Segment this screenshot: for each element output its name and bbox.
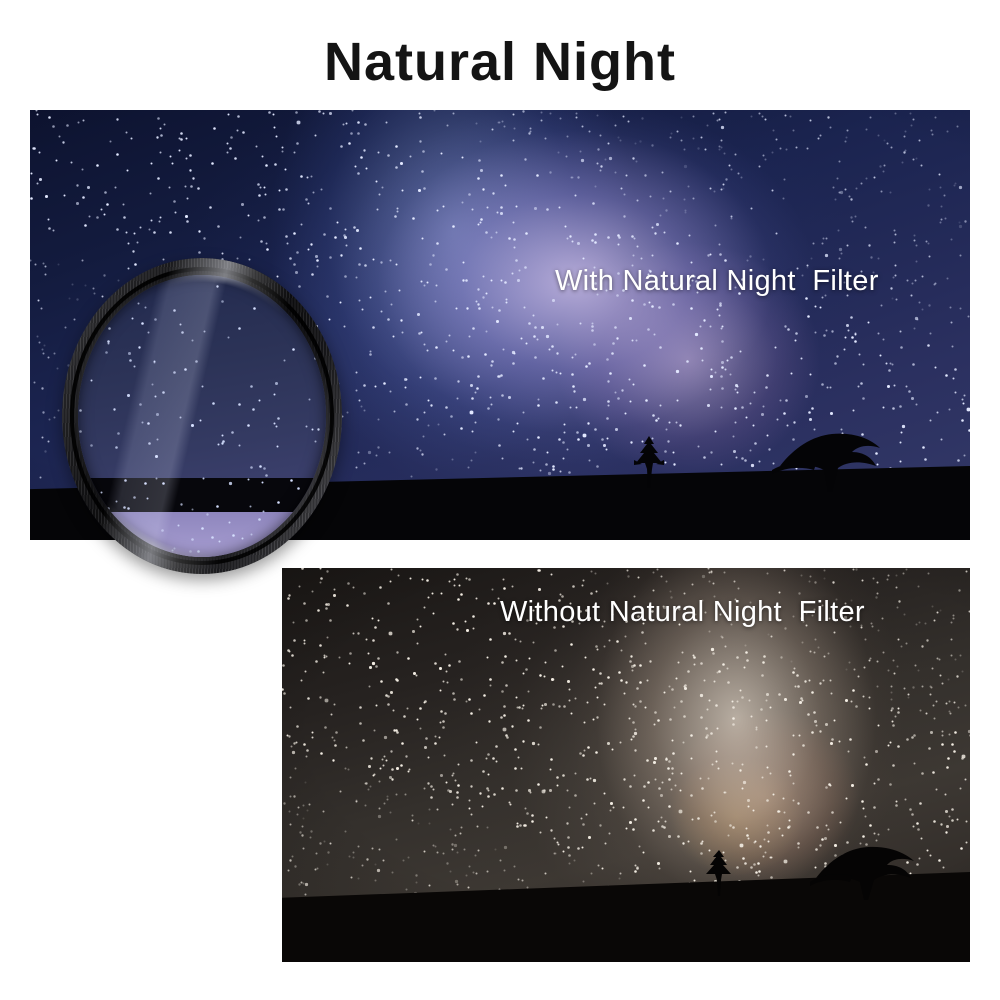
caption-with-filter: With Natural Night Filter (555, 265, 879, 298)
horizon-ground-unfiltered (282, 902, 970, 962)
caption-without-filter: Without Natural Night Filter (500, 596, 865, 629)
tree-silhouette-large (810, 840, 918, 900)
page-title: Natural Night (0, 34, 1000, 91)
tree-silhouette-small (700, 850, 738, 896)
comparison-panel-without-filter: Without Natural Night Filter (282, 568, 970, 962)
marketing-image-canvas: Natural Night With Natural Night Filter (0, 0, 1000, 1000)
filter-ring-inner-bevel (70, 267, 334, 565)
tree-silhouette-large (772, 426, 884, 492)
tree-silhouette-small (628, 436, 670, 488)
camera-filter-product (62, 258, 342, 574)
